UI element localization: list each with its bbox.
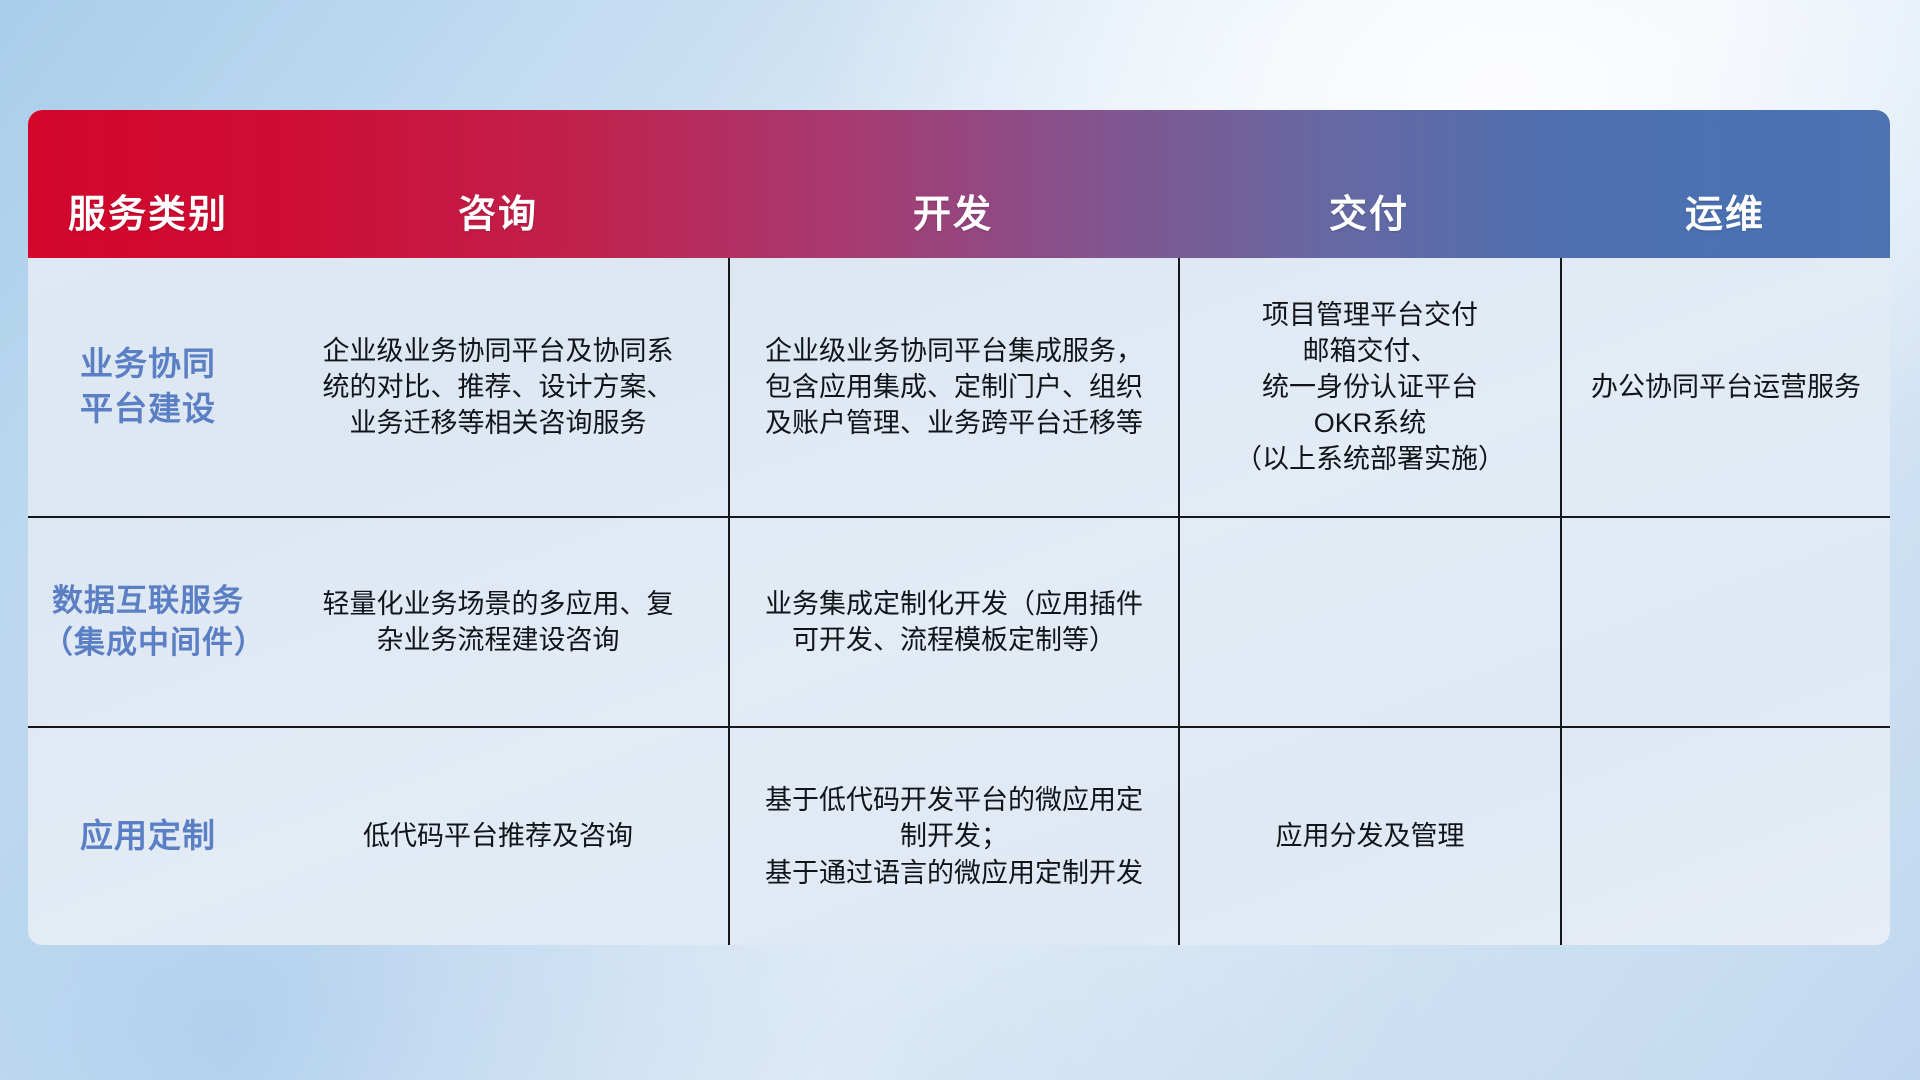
cell-development: 基于低代码开发平台的微应用定 制开发； 基于通过语言的微应用定制开发: [728, 728, 1178, 945]
column-header-operations: 运维: [1560, 196, 1890, 258]
cell-consulting: 轻量化业务场景的多应用、复 杂业务流程建设咨询: [268, 518, 728, 726]
cell-development: 业务集成定制化开发（应用插件 可开发、流程模板定制等）: [728, 518, 1178, 726]
row-category-label: 应用定制: [28, 728, 268, 945]
table-header-row: 服务类别 咨询 开发 交付 运维: [28, 110, 1890, 258]
cell-delivery: [1178, 518, 1560, 726]
table-row: 业务协同 平台建设 企业级业务协同平台及协同系 统的对比、推荐、设计方案、 业务…: [28, 258, 1890, 516]
slide-canvas: 服务类别 咨询 开发 交付 运维 业务协同 平台建设 企业级业务协同平台及协同系…: [0, 0, 1920, 1080]
cell-development: 企业级业务协同平台集成服务， 包含应用集成、定制门户、组织 及账户管理、业务跨平…: [728, 258, 1178, 516]
cell-consulting: 企业级业务协同平台及协同系 统的对比、推荐、设计方案、 业务迁移等相关咨询服务: [268, 258, 728, 516]
column-header-category: 服务类别: [28, 196, 268, 258]
table-row: 应用定制 低代码平台推荐及咨询 基于低代码开发平台的微应用定 制开发； 基于通过…: [28, 726, 1890, 945]
cell-operations: [1560, 518, 1890, 726]
cell-operations: [1560, 728, 1890, 945]
column-header-delivery: 交付: [1178, 196, 1560, 258]
service-matrix-table: 服务类别 咨询 开发 交付 运维 业务协同 平台建设 企业级业务协同平台及协同系…: [28, 110, 1890, 945]
cell-consulting: 低代码平台推荐及咨询: [268, 728, 728, 945]
cell-operations: 办公协同平台运营服务: [1560, 258, 1890, 516]
cell-delivery: 应用分发及管理: [1178, 728, 1560, 945]
row-category-label: 数据互联服务 （集成中间件）: [28, 518, 268, 726]
row-category-label: 业务协同 平台建设: [28, 258, 268, 516]
cell-delivery: 项目管理平台交付 邮箱交付、 统一身份认证平台 OKR系统 （以上系统部署实施）: [1178, 258, 1560, 516]
column-header-consulting: 咨询: [268, 196, 728, 258]
table-row: 数据互联服务 （集成中间件） 轻量化业务场景的多应用、复 杂业务流程建设咨询 业…: [28, 516, 1890, 726]
table-body: 业务协同 平台建设 企业级业务协同平台及协同系 统的对比、推荐、设计方案、 业务…: [28, 258, 1890, 945]
column-header-development: 开发: [728, 196, 1178, 258]
